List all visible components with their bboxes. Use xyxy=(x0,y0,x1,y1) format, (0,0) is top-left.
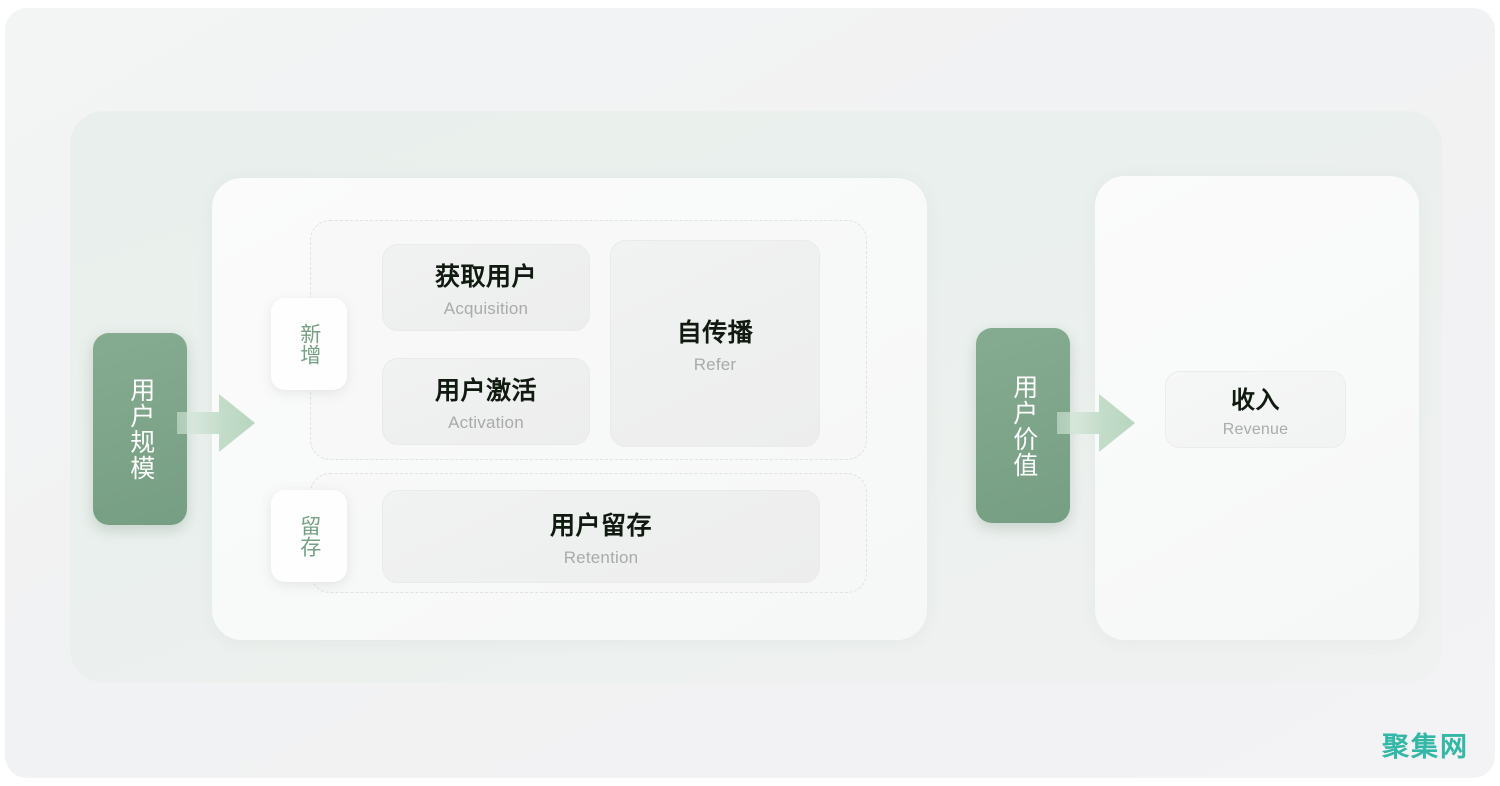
card-refer[interactable]: 自传播 Refer xyxy=(610,240,820,447)
arrow-scale-to-funnel-icon xyxy=(177,391,255,455)
growth-group-badge-label: 新增 xyxy=(293,323,325,365)
diagram-frame: 用户规模 新增 留存 获取用户 Acquisition 用户激活 Activat… xyxy=(5,8,1495,778)
card-retention-subtitle: Retention xyxy=(564,548,639,568)
card-refer-subtitle: Refer xyxy=(694,355,737,375)
input-pill-user-value-label: 用户价值 xyxy=(1005,374,1041,478)
growth-group-badge[interactable]: 新增 xyxy=(271,298,347,390)
input-pill-user-scale[interactable]: 用户规模 xyxy=(93,333,187,525)
card-revenue[interactable]: 收入 Revenue xyxy=(1165,371,1346,448)
card-refer-title: 自传播 xyxy=(677,313,754,349)
watermark-logo: 聚集网 xyxy=(1382,725,1469,764)
retention-group-badge[interactable]: 留存 xyxy=(271,490,347,582)
card-retention[interactable]: 用户留存 Retention xyxy=(382,490,820,583)
card-activation[interactable]: 用户激活 Activation xyxy=(382,358,590,445)
card-acquisition[interactable]: 获取用户 Acquisition xyxy=(382,244,590,331)
card-revenue-title: 收入 xyxy=(1231,380,1280,415)
card-activation-subtitle: Activation xyxy=(448,413,524,433)
card-revenue-subtitle: Revenue xyxy=(1223,421,1288,439)
card-acquisition-subtitle: Acquisition xyxy=(444,299,528,319)
arrow-value-to-revenue-icon xyxy=(1057,391,1135,455)
card-acquisition-title: 获取用户 xyxy=(435,257,537,293)
input-pill-user-scale-label: 用户规模 xyxy=(122,377,158,481)
card-activation-title: 用户激活 xyxy=(435,371,537,407)
input-pill-user-value[interactable]: 用户价值 xyxy=(976,328,1070,523)
retention-group-badge-label: 留存 xyxy=(293,515,325,557)
card-retention-title: 用户留存 xyxy=(550,506,652,542)
